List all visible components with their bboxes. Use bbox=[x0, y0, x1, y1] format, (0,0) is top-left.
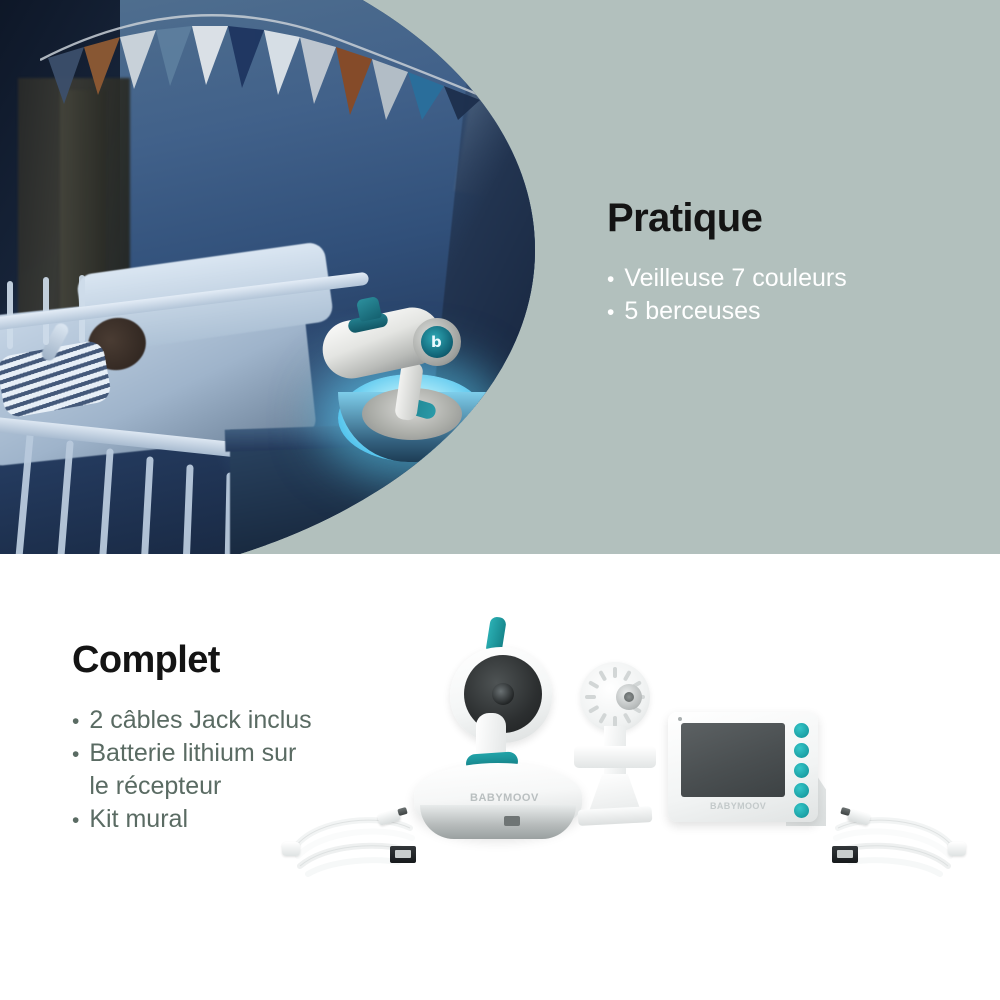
cable-usb-connector bbox=[832, 846, 858, 863]
product-jack-cable-left bbox=[278, 804, 438, 884]
cable-coil bbox=[278, 804, 438, 884]
brand-b-glyph: b bbox=[431, 333, 444, 351]
camera-lens bbox=[492, 683, 514, 705]
cable-clip bbox=[282, 842, 300, 856]
nursery-night-photo: b bbox=[0, 0, 540, 554]
mount-screw bbox=[624, 692, 634, 702]
pratique-feature-list: • Veilleuse 7 couleurs • 5 berceuses bbox=[607, 262, 977, 327]
cable-clip bbox=[948, 842, 966, 856]
receiver-menu-button[interactable] bbox=[794, 743, 809, 758]
bottom-feature-section: Complet • 2 câbles Jack inclus • Batteri… bbox=[0, 554, 1000, 1000]
mount-slot bbox=[598, 670, 607, 682]
list-item: • 5 berceuses bbox=[607, 295, 977, 328]
mount-slot bbox=[623, 712, 632, 724]
top-feature-section: b Pratique • Veilleuse 7 couleurs • 5 be… bbox=[0, 0, 1000, 554]
mount-slot bbox=[585, 695, 596, 699]
camera-power-port bbox=[504, 816, 520, 826]
list-item-label: Veilleuse 7 couleurs bbox=[624, 262, 846, 295]
mount-arm bbox=[574, 746, 656, 768]
list-item-label: 5 berceuses bbox=[624, 295, 760, 328]
mount-slot bbox=[588, 705, 600, 714]
product-feature-panel: b Pratique • Veilleuse 7 couleurs • 5 be… bbox=[0, 0, 1000, 1000]
receiver-up-button[interactable] bbox=[794, 763, 809, 778]
usb-contact bbox=[837, 850, 853, 858]
mount-foot bbox=[578, 806, 653, 826]
cable-coil bbox=[810, 804, 970, 884]
product-lineup: BABYMOOV bbox=[0, 614, 1000, 1000]
cable-usb-connector bbox=[390, 846, 416, 863]
camera-brand-logo: BABYMOOV bbox=[470, 793, 560, 817]
mount-slot bbox=[588, 680, 600, 689]
mount-slot bbox=[598, 712, 607, 724]
camera-knob bbox=[356, 296, 382, 322]
receiver-power-button[interactable] bbox=[794, 723, 809, 738]
usb-contact bbox=[395, 850, 411, 858]
bullet-dot: • bbox=[607, 269, 614, 290]
receiver-brand-logo: BABYMOOV bbox=[710, 802, 780, 816]
product-wall-mount bbox=[566, 662, 662, 832]
list-item: • Veilleuse 7 couleurs bbox=[607, 262, 977, 295]
bunting-flags-icon bbox=[40, 0, 520, 120]
mount-slot bbox=[613, 667, 617, 678]
receiver-indicator-led bbox=[678, 717, 682, 721]
receiver-ok-button[interactable] bbox=[794, 803, 809, 818]
mount-slot bbox=[623, 670, 632, 682]
mount-disc bbox=[580, 662, 650, 732]
top-text-column: Pratique • Veilleuse 7 couleurs • 5 berc… bbox=[607, 196, 977, 327]
receiver-screen bbox=[681, 723, 785, 797]
bullet-dot: • bbox=[607, 302, 614, 323]
product-jack-cable-right bbox=[810, 804, 970, 884]
receiver-down-button[interactable] bbox=[794, 783, 809, 798]
nightlight-camera-device: b bbox=[300, 296, 480, 486]
page-title-pratique: Pratique bbox=[607, 196, 977, 240]
